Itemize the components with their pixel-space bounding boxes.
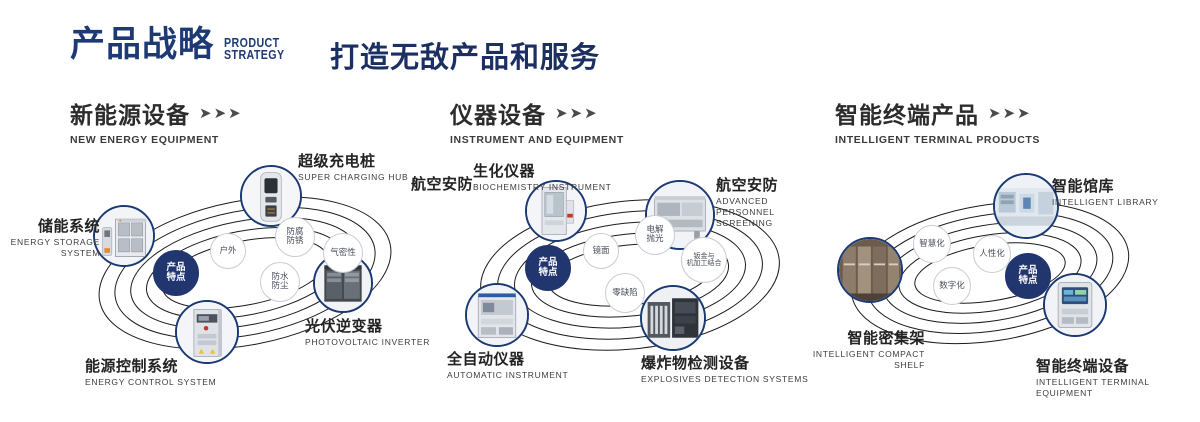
label-advanced-personnel-screening: 航空安防 ADVANCED PERSONNEL SCREENING bbox=[716, 177, 821, 229]
feature-bubble-mirror-finish[interactable]: 镜面 bbox=[583, 233, 619, 269]
label-energy-control-system: 能源控制系统 ENERGY CONTROL SYSTEM bbox=[85, 358, 216, 388]
label-intelligent-library: 智能馆库 INTELLIGENT LIBRARY bbox=[1052, 178, 1159, 208]
section-header-new-energy: 新能源设备 ➤➤➤ NEW ENERGY EQUIPMENT bbox=[70, 96, 242, 146]
feature-core-product-features[interactable]: 产品 特点 bbox=[153, 250, 199, 296]
feature-core-product-features[interactable]: 产品特点 bbox=[1005, 253, 1051, 299]
label-aviation-security-prefix: 航空安防 bbox=[398, 176, 473, 193]
cluster-new-energy-equipment: 产品 特点 户外 防腐防锈 防水防尘 气密性 bbox=[55, 155, 435, 385]
section-title-text: 仪器设备 bbox=[450, 96, 546, 130]
section-title-en: INSTRUMENT AND EQUIPMENT bbox=[450, 134, 624, 146]
product-node-energy-control-system[interactable] bbox=[175, 300, 239, 364]
chevron-right-icon: ➤➤➤ bbox=[199, 106, 242, 121]
feature-bubble-outdoor[interactable]: 户外 bbox=[210, 233, 246, 269]
label-energy-storage-system: 储能系统 ENERGY STORAGE SYSTEM bbox=[0, 218, 100, 259]
section-title-en: INTELLIGENT TERMINAL PRODUCTS bbox=[835, 134, 1040, 146]
label-explosives-detection: 爆炸物检测设备 EXPLOSIVES DETECTION SYSTEMS bbox=[641, 355, 808, 385]
product-strategy-infographic: 产品战略 PRODUCT STRATEGY 打造无敌产品和服务 新能源设备 ➤➤… bbox=[0, 0, 1200, 422]
feature-bubble-airtight[interactable]: 气密性 bbox=[323, 233, 363, 273]
product-node-intelligent-library[interactable] bbox=[993, 173, 1059, 239]
label-photovoltaic-inverter: 光伏逆变器 PHOTOVOLTAIC INVERTER bbox=[305, 318, 430, 348]
page-subtitle: 打造无敌产品和服务 bbox=[330, 34, 600, 76]
terminal-kiosk-photo bbox=[1045, 275, 1105, 335]
feature-core-line2: 特点 bbox=[166, 273, 185, 283]
section-title-en: NEW ENERGY EQUIPMENT bbox=[70, 134, 242, 146]
label-intelligent-terminal-equipment: 智能终端设备 INTELLIGENT TERMINAL EQUIPMENT bbox=[1036, 358, 1200, 399]
page-title-en: PRODUCT STRATEGY bbox=[224, 37, 285, 61]
section-title-text: 新能源设备 bbox=[70, 96, 190, 130]
chevron-right-icon: ➤➤➤ bbox=[988, 106, 1031, 121]
section-header-intelligent: 智能终端产品 ➤➤➤ INTELLIGENT TERMINAL PRODUCTS bbox=[835, 96, 1040, 146]
feature-bubble-zero-defect[interactable]: 零缺陷 bbox=[605, 273, 645, 313]
smart-library-photo bbox=[995, 175, 1057, 237]
feature-core-product-features[interactable]: 产品特点 bbox=[525, 245, 571, 291]
page-title-cn: 产品战略 bbox=[70, 28, 214, 63]
label-intelligent-compact-shelf: 智能密集架 INTELLIGENT COMPACTSHELF bbox=[795, 330, 925, 371]
product-node-explosives-detection[interactable] bbox=[640, 285, 706, 351]
section-title-cn: 新能源设备 ➤➤➤ bbox=[70, 96, 242, 130]
feature-bubble-waterproof[interactable]: 防水防尘 bbox=[260, 262, 300, 302]
label-automatic-instrument: 全自动仪器 AUTOMATIC INSTRUMENT bbox=[447, 351, 568, 381]
control-cabinet-photo bbox=[177, 302, 237, 362]
section-title-cn: 智能终端产品 ➤➤➤ bbox=[835, 96, 1040, 130]
label-super-charging-hub: 超级充电桩 SUPER CHARGING HUB bbox=[298, 153, 408, 183]
product-node-automatic-instrument[interactable] bbox=[465, 283, 529, 347]
automatic-instrument-photo bbox=[467, 285, 527, 345]
section-title-cn: 仪器设备 ➤➤➤ bbox=[450, 96, 624, 130]
feature-bubble-intelligent[interactable]: 智慧化 bbox=[913, 225, 951, 263]
compact-shelf-photo bbox=[839, 239, 901, 301]
battery-cabinet-photo bbox=[95, 207, 153, 265]
product-node-intelligent-compact-shelf[interactable] bbox=[837, 237, 903, 303]
feature-bubble-humanized[interactable]: 人性化 bbox=[973, 235, 1011, 273]
feature-bubble-anticorrosion[interactable]: 防腐防锈 bbox=[275, 217, 315, 257]
label-biochemistry-instrument: 生化仪器 BIOCHEMISTRY INSTRUMENT bbox=[473, 163, 612, 193]
feature-bubble-digital[interactable]: 数字化 bbox=[933, 267, 971, 305]
product-node-intelligent-terminal-equipment[interactable] bbox=[1043, 273, 1107, 337]
feature-bubble-electropolishing[interactable]: 电解抛光 bbox=[635, 215, 675, 255]
section-title-text: 智能终端产品 bbox=[835, 96, 979, 130]
page-title: 产品战略 PRODUCT STRATEGY bbox=[70, 28, 298, 63]
feature-bubble-sheet-metal-machining[interactable]: 钣金与机加工结合 bbox=[681, 237, 727, 283]
product-node-energy-storage-system[interactable] bbox=[93, 205, 155, 267]
detection-rack-photo bbox=[642, 287, 704, 349]
section-header-instrument: 仪器设备 ➤➤➤ INSTRUMENT AND EQUIPMENT bbox=[450, 96, 624, 146]
chevron-right-icon: ➤➤➤ bbox=[555, 106, 598, 121]
page-title-en-line2: STRATEGY bbox=[224, 49, 285, 61]
